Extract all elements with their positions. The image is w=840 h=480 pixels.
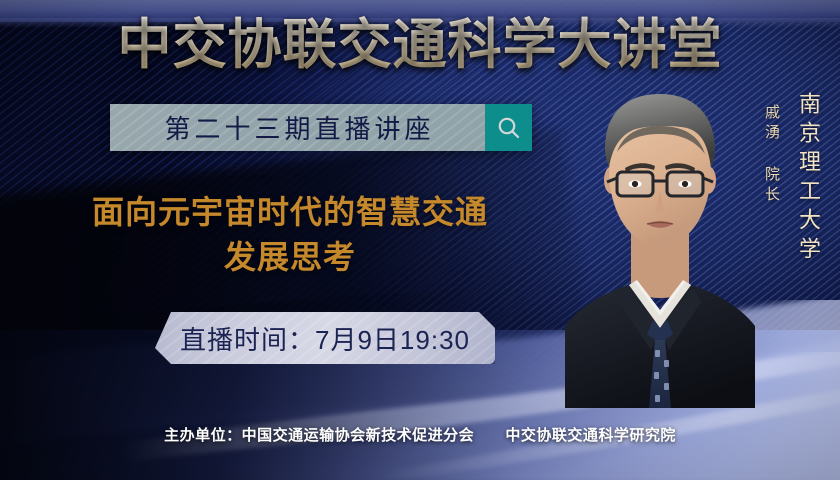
episode-subtitle-fill: 第二十三期直播讲座 [110, 104, 485, 151]
footer-hosts: 主办单位：中国交通运输协会新技术促进分会 中交协联交通科学研究院 [0, 424, 840, 445]
episode-subtitle-label: 第二十三期直播讲座 [160, 109, 434, 146]
episode-subtitle-bar: 第二十三期直播讲座 [110, 104, 532, 151]
footer-host-primary: 主办单位：中国交通运输协会新技术促进分会 [164, 427, 474, 444]
live-time-badge: 直播时间：7月9日19:30 [155, 312, 495, 364]
speaker-name-and-role: 戚湧 院长 [761, 92, 782, 206]
live-stream-poster: 中交协联交通科学大讲堂 第二十三期直播讲座 面向元宇宙时代的智慧交通 发展思考 … [0, 0, 840, 480]
speaker-organization: 南京理工大学 [792, 92, 824, 266]
speaker-info: 戚湧 院长 南京理工大学 [761, 92, 824, 266]
main-title: 中交协联交通科学大讲堂 [0, 14, 840, 76]
topic-title: 面向元宇宙时代的智慧交通 发展思考 [30, 190, 550, 280]
topic-title-line1: 面向元宇宙时代的智慧交通 [92, 194, 488, 230]
search-icon[interactable] [485, 104, 532, 151]
topic-title-line2: 发展思考 [30, 235, 550, 280]
live-time-label: 直播时间：7月9日19:30 [180, 320, 470, 357]
footer-host-secondary: 中交协联交通科学研究院 [505, 427, 676, 444]
